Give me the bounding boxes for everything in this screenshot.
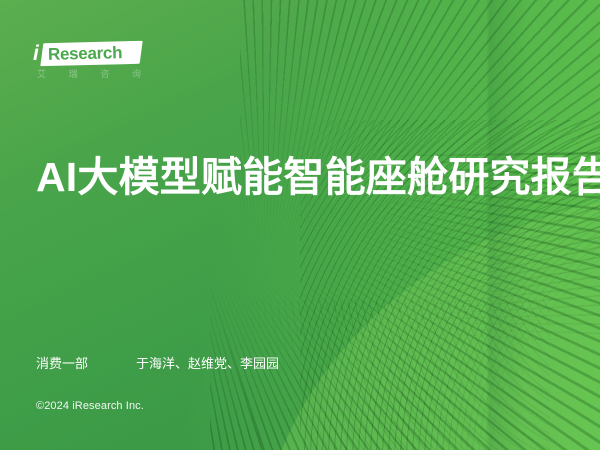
report-cover-slide: i Research 艾 瑞 咨 询 AI大模型赋能智能座舱研究报告 消费一部 … [0, 0, 600, 450]
iresearch-logo: i Research 艾 瑞 咨 询 [33, 42, 145, 84]
logo-letter-i: i [33, 43, 39, 64]
logo-chinese-char-3: 咨 [100, 69, 109, 80]
logo-chinese-subtext: 艾 瑞 咨 询 [37, 69, 141, 80]
logo-wordmark: Research [48, 43, 123, 64]
logo-chinese-char-2: 瑞 [69, 69, 78, 80]
copyright-notice: ©2024 iResearch Inc. [36, 399, 144, 413]
byline-department: 消费一部 [36, 355, 136, 373]
report-title: AI大模型赋能智能座舱研究报告 [36, 152, 576, 202]
logo-chinese-char-4: 询 [132, 69, 141, 80]
byline-authors: 于海洋、赵维党、李园园 [136, 355, 279, 373]
logo-chinese-char-1: 艾 [37, 69, 46, 80]
logo-mark: i Research [33, 42, 145, 66]
byline: 消费一部 于海洋、赵维党、李园园 [36, 355, 279, 373]
